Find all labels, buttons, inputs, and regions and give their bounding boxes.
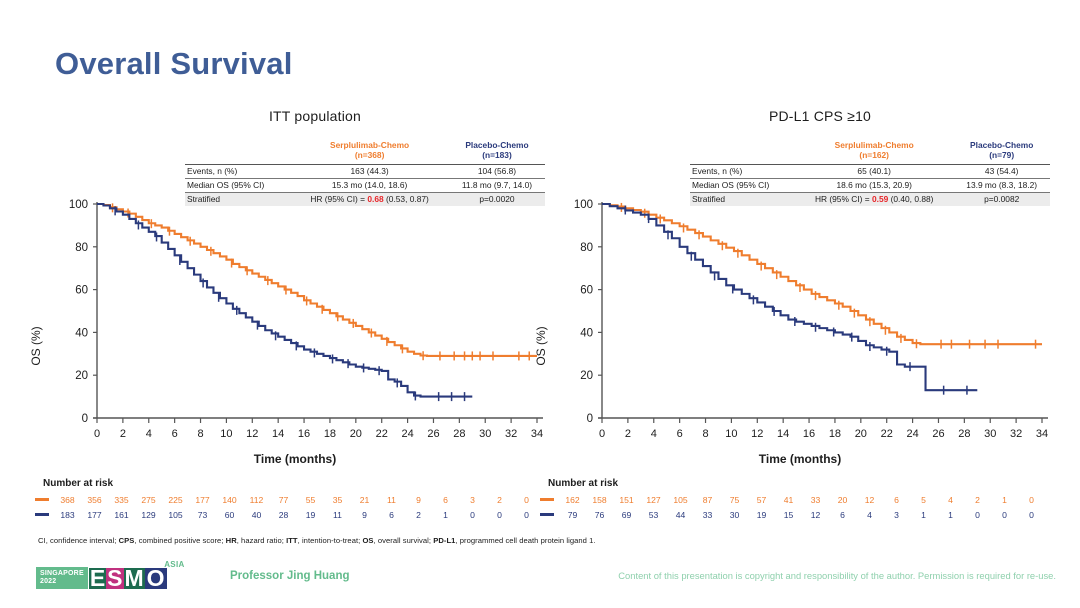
chart-panel-pdl1: PD-L1 CPS ≥10 Serplulimab-Chemo (n=162) …	[540, 108, 1060, 488]
y-tick-label: 40	[75, 327, 88, 339]
risk-value: 161	[108, 510, 135, 520]
km-curves-svg-pdl1: 0204060801000246810121416182022242628303…	[540, 196, 1060, 456]
x-tick-label: 32	[505, 428, 517, 440]
table-row-median-os: Median OS (95% CI) 15.3 mo (14.0, 18.6) …	[185, 178, 545, 192]
x-tick-label: 30	[479, 428, 491, 440]
x-tick-label: 18	[829, 428, 841, 440]
x-tick-label: 24	[906, 428, 918, 440]
abbrev-term: HR	[226, 536, 237, 545]
x-tick-label: 0	[94, 428, 100, 440]
risk-value: 0	[991, 510, 1018, 520]
median-os-arm-0: 18.6 mo (15.3, 20.9)	[795, 178, 953, 192]
legend-dash-orange-icon	[35, 498, 49, 501]
stats-header-blank	[690, 138, 795, 164]
x-tick-label: 14	[272, 428, 284, 440]
risk-value: 2	[964, 495, 991, 505]
esmo-logo: ESMO ASIA	[89, 565, 167, 589]
km-curve-serplulimab-chemo	[97, 204, 537, 356]
abbrev-definition: , confidence interval;	[46, 536, 119, 545]
risk-value: 9	[351, 510, 378, 520]
risk-value: 73	[189, 510, 216, 520]
panel-title-pdl1: PD-L1 CPS ≥10	[580, 108, 1060, 124]
esmo-asia-label: ASIA	[164, 560, 184, 569]
x-tick-label: 8	[702, 428, 708, 440]
risk-row-arm-0: 368356335275225177140112775535211196320	[35, 492, 540, 507]
risk-value: 79	[559, 510, 586, 520]
risk-value: 1	[937, 510, 964, 520]
risk-value: 28	[270, 510, 297, 520]
row-label-events: Events, n (%)	[690, 164, 795, 178]
risk-value: 4	[937, 495, 964, 505]
congress-logo: SINGAPORE 2022 ESMO ASIA	[36, 563, 167, 589]
congress-year: 2022	[40, 578, 84, 586]
risk-value: 20	[829, 495, 856, 505]
esmo-letter-m: M	[124, 568, 145, 589]
y-tick-label: 40	[580, 327, 593, 339]
risk-table-pdl1: Number at risk 1621581511271058775574133…	[540, 478, 1045, 522]
risk-value: 177	[189, 495, 216, 505]
risk-value: 57	[748, 495, 775, 505]
abbrev-term: ITT	[286, 536, 298, 545]
presenter-name: Professor Jing Huang	[230, 570, 350, 582]
risk-value: 0	[964, 510, 991, 520]
risk-value: 105	[667, 495, 694, 505]
arm-n: (n=162)	[859, 150, 889, 160]
table-row-median-os: Median OS (95% CI) 18.6 mo (15.3, 20.9) …	[690, 178, 1050, 192]
x-tick-label: 28	[958, 428, 970, 440]
arm-name: Placebo-Chemo	[970, 140, 1033, 150]
abbrev-term: CPS	[119, 536, 135, 545]
risk-value: 3	[883, 510, 910, 520]
events-value-arm-0: 65 (40.1)	[795, 164, 953, 178]
risk-value: 275	[135, 495, 162, 505]
abbrev-definition: , programmed cell death protein ligand 1…	[455, 536, 595, 545]
risk-value: 0	[513, 510, 540, 520]
risk-value: 1	[432, 510, 459, 520]
arm-name: Serplulimab-Chemo	[835, 140, 914, 150]
x-tick-label: 6	[172, 428, 178, 440]
congress-city: SINGAPORE	[40, 570, 84, 578]
arm-name: Placebo-Chemo	[465, 140, 528, 150]
risk-value: 11	[378, 495, 405, 505]
events-value-arm-0: 163 (44.3)	[290, 164, 449, 178]
x-tick-label: 20	[855, 428, 867, 440]
risk-value: 19	[748, 510, 775, 520]
risk-values-arm-0: 368356335275225177140112775535211196320	[54, 495, 540, 505]
x-axis-label: Time (months)	[540, 452, 1060, 466]
risk-value: 11	[324, 510, 351, 520]
x-tick-label: 16	[803, 428, 815, 440]
x-tick-label: 20	[350, 428, 362, 440]
risk-value: 105	[162, 510, 189, 520]
y-axis-label: OS (%)	[534, 326, 548, 365]
risk-value: 44	[667, 510, 694, 520]
x-tick-label: 22	[881, 428, 893, 440]
risk-value: 0	[1018, 495, 1045, 505]
risk-value: 6	[432, 495, 459, 505]
stats-header-arm-0: Serplulimab-Chemo (n=162)	[795, 138, 953, 164]
arm-n: (n=183)	[482, 150, 512, 160]
risk-value: 12	[802, 510, 829, 520]
risk-value: 0	[459, 510, 486, 520]
risk-row-arm-0: 16215815112710587755741332012654210	[540, 492, 1045, 507]
y-tick-label: 20	[75, 370, 88, 382]
risk-value: 0	[486, 510, 513, 520]
risk-row-arm-1: 7976695344333019151264311000	[540, 507, 1045, 522]
x-tick-label: 8	[197, 428, 203, 440]
y-tick-label: 100	[69, 199, 88, 211]
x-tick-label: 22	[376, 428, 388, 440]
risk-values-arm-0: 16215815112710587755741332012654210	[559, 495, 1045, 505]
y-tick-label: 60	[580, 285, 593, 297]
x-tick-label: 12	[751, 428, 763, 440]
risk-value: 6	[378, 510, 405, 520]
panel-title-itt: ITT population	[75, 108, 555, 124]
risk-value: 9	[405, 495, 432, 505]
y-tick-label: 80	[580, 242, 593, 254]
x-tick-label: 30	[984, 428, 996, 440]
legend-dash-orange-icon	[540, 498, 554, 501]
table-row-events: Events, n (%) 65 (40.1) 43 (54.4)	[690, 164, 1050, 178]
risk-value: 60	[216, 510, 243, 520]
y-axis-label: OS (%)	[29, 326, 43, 365]
risk-value: 33	[802, 495, 829, 505]
abbreviations-footnote: CI, confidence interval; CPS, combined p…	[38, 536, 1038, 545]
risk-value: 55	[297, 495, 324, 505]
x-tick-label: 18	[324, 428, 336, 440]
risk-value: 30	[721, 510, 748, 520]
risk-value: 21	[351, 495, 378, 505]
risk-value: 12	[856, 495, 883, 505]
risk-value: 53	[640, 510, 667, 520]
y-tick-label: 0	[587, 413, 593, 425]
esmo-letter-e: E	[89, 568, 106, 589]
x-tick-label: 2	[625, 428, 631, 440]
arm-n: (n=79)	[989, 150, 1014, 160]
km-curve-placebo-chemo	[97, 204, 472, 397]
km-curve-serplulimab-chemo	[602, 204, 1042, 344]
risk-value: 127	[640, 495, 667, 505]
risk-value: 162	[559, 495, 586, 505]
x-tick-label: 32	[1010, 428, 1022, 440]
km-plot-pdl1: OS (%) 020406080100024681012141618202224…	[540, 196, 1060, 496]
risk-value: 1	[910, 510, 937, 520]
risk-values-arm-1: 7976695344333019151264311000	[559, 510, 1045, 520]
median-os-arm-1: 11.8 mo (9.7, 14.0)	[449, 178, 545, 192]
stats-header-arm-1: Placebo-Chemo (n=79)	[953, 138, 1050, 164]
row-label-events: Events, n (%)	[185, 164, 290, 178]
chart-panel-itt: ITT population Serplulimab-Chemo (n=368)…	[35, 108, 555, 488]
risk-value: 75	[721, 495, 748, 505]
risk-value: 4	[856, 510, 883, 520]
risk-value: 69	[613, 510, 640, 520]
risk-title: Number at risk	[43, 478, 540, 489]
risk-value: 77	[270, 495, 297, 505]
events-value-arm-1: 104 (56.8)	[449, 164, 545, 178]
risk-value: 33	[694, 510, 721, 520]
risk-value: 1	[991, 495, 1018, 505]
median-os-arm-1: 13.9 mo (8.3, 18.2)	[953, 178, 1050, 192]
x-tick-label: 26	[427, 428, 439, 440]
abbrev-term: OS	[362, 536, 373, 545]
x-tick-label: 34	[1036, 428, 1048, 440]
risk-value: 368	[54, 495, 81, 505]
risk-value: 6	[883, 495, 910, 505]
risk-value: 41	[775, 495, 802, 505]
page-title: Overall Survival	[55, 46, 293, 82]
abbrev-definition: , intention-to-treat;	[298, 536, 363, 545]
risk-value: 2	[486, 495, 513, 505]
x-tick-label: 16	[298, 428, 310, 440]
x-tick-label: 26	[932, 428, 944, 440]
risk-value: 40	[243, 510, 270, 520]
abbrev-definition: CI	[38, 536, 46, 545]
median-os-arm-0: 15.3 mo (14.0, 18.6)	[290, 178, 449, 192]
risk-value: 5	[910, 495, 937, 505]
x-tick-label: 10	[220, 428, 232, 440]
y-tick-label: 20	[580, 370, 593, 382]
risk-table-itt: Number at risk 3683563352752251771401127…	[35, 478, 540, 522]
x-tick-label: 6	[677, 428, 683, 440]
row-label-median-os: Median OS (95% CI)	[185, 178, 290, 192]
risk-value: 225	[162, 495, 189, 505]
risk-row-arm-1: 1831771611291057360402819119621000	[35, 507, 540, 522]
risk-value: 35	[324, 495, 351, 505]
x-tick-label: 0	[599, 428, 605, 440]
risk-title: Number at risk	[548, 478, 1045, 489]
congress-location-badge: SINGAPORE 2022	[36, 567, 88, 589]
risk-value: 0	[513, 495, 540, 505]
risk-value: 129	[135, 510, 162, 520]
stats-header-blank	[185, 138, 290, 164]
risk-value: 112	[243, 495, 270, 505]
x-tick-label: 28	[453, 428, 465, 440]
legend-dash-navy-icon	[540, 513, 554, 516]
risk-value: 140	[216, 495, 243, 505]
x-tick-label: 4	[651, 428, 657, 440]
events-value-arm-1: 43 (54.4)	[953, 164, 1050, 178]
table-row-events: Events, n (%) 163 (44.3) 104 (56.8)	[185, 164, 545, 178]
abbrev-term: PD-L1	[433, 536, 455, 545]
stats-header-arm-0: Serplulimab-Chemo (n=368)	[290, 138, 449, 164]
risk-value: 335	[108, 495, 135, 505]
y-tick-label: 80	[75, 242, 88, 254]
km-curve-placebo-chemo	[602, 204, 977, 390]
arm-name: Serplulimab-Chemo	[330, 140, 409, 150]
row-label-median-os: Median OS (95% CI)	[690, 178, 795, 192]
risk-value: 177	[81, 510, 108, 520]
risk-value: 6	[829, 510, 856, 520]
km-plot-itt: OS (%) 020406080100024681012141618202224…	[35, 196, 555, 496]
risk-value: 151	[613, 495, 640, 505]
y-tick-label: 100	[574, 199, 593, 211]
x-tick-label: 4	[146, 428, 152, 440]
risk-value: 2	[405, 510, 432, 520]
y-tick-label: 0	[82, 413, 88, 425]
esmo-letter-o: O	[145, 568, 167, 589]
risk-value: 19	[297, 510, 324, 520]
risk-value: 158	[586, 495, 613, 505]
esmo-letter-s: S	[106, 568, 123, 589]
risk-value: 0	[1018, 510, 1045, 520]
legend-dash-navy-icon	[35, 513, 49, 516]
x-axis-label: Time (months)	[35, 452, 555, 466]
risk-value: 356	[81, 495, 108, 505]
risk-value: 76	[586, 510, 613, 520]
x-tick-label: 2	[120, 428, 126, 440]
y-tick-label: 60	[75, 285, 88, 297]
abbrev-definition: , combined positive score;	[134, 536, 225, 545]
abbrev-definition: , hazard ratio;	[237, 536, 286, 545]
x-tick-label: 14	[777, 428, 789, 440]
stats-header-arm-1: Placebo-Chemo (n=183)	[449, 138, 545, 164]
km-curves-svg-itt: 0204060801000246810121416182022242628303…	[35, 196, 555, 456]
arm-n: (n=368)	[355, 150, 385, 160]
risk-value: 3	[459, 495, 486, 505]
x-tick-label: 24	[401, 428, 413, 440]
x-tick-label: 12	[246, 428, 258, 440]
risk-value: 15	[775, 510, 802, 520]
risk-values-arm-1: 1831771611291057360402819119621000	[54, 510, 540, 520]
copyright-notice: Content of this presentation is copyrigh…	[618, 570, 1056, 581]
risk-value: 87	[694, 495, 721, 505]
risk-value: 183	[54, 510, 81, 520]
abbrev-definition: , overall survival;	[374, 536, 434, 545]
x-tick-label: 10	[725, 428, 737, 440]
